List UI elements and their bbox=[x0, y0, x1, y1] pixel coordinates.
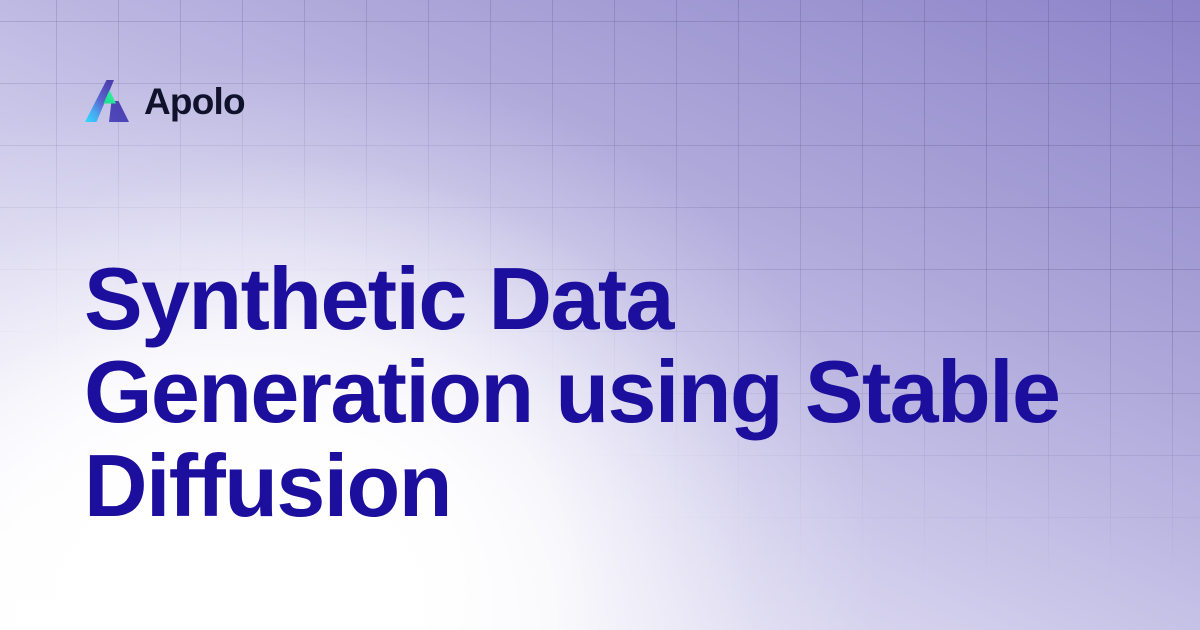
brand-lockup[interactable]: Apolo bbox=[84, 78, 245, 124]
social-share-card: Apolo Synthetic Data Generation using St… bbox=[0, 0, 1200, 630]
brand-name: Apolo bbox=[144, 83, 245, 120]
card-content: Apolo Synthetic Data Generation using St… bbox=[0, 0, 1200, 630]
page-title: Synthetic Data Generation using Stable D… bbox=[84, 252, 1094, 532]
apolo-logo-icon bbox=[84, 78, 130, 124]
